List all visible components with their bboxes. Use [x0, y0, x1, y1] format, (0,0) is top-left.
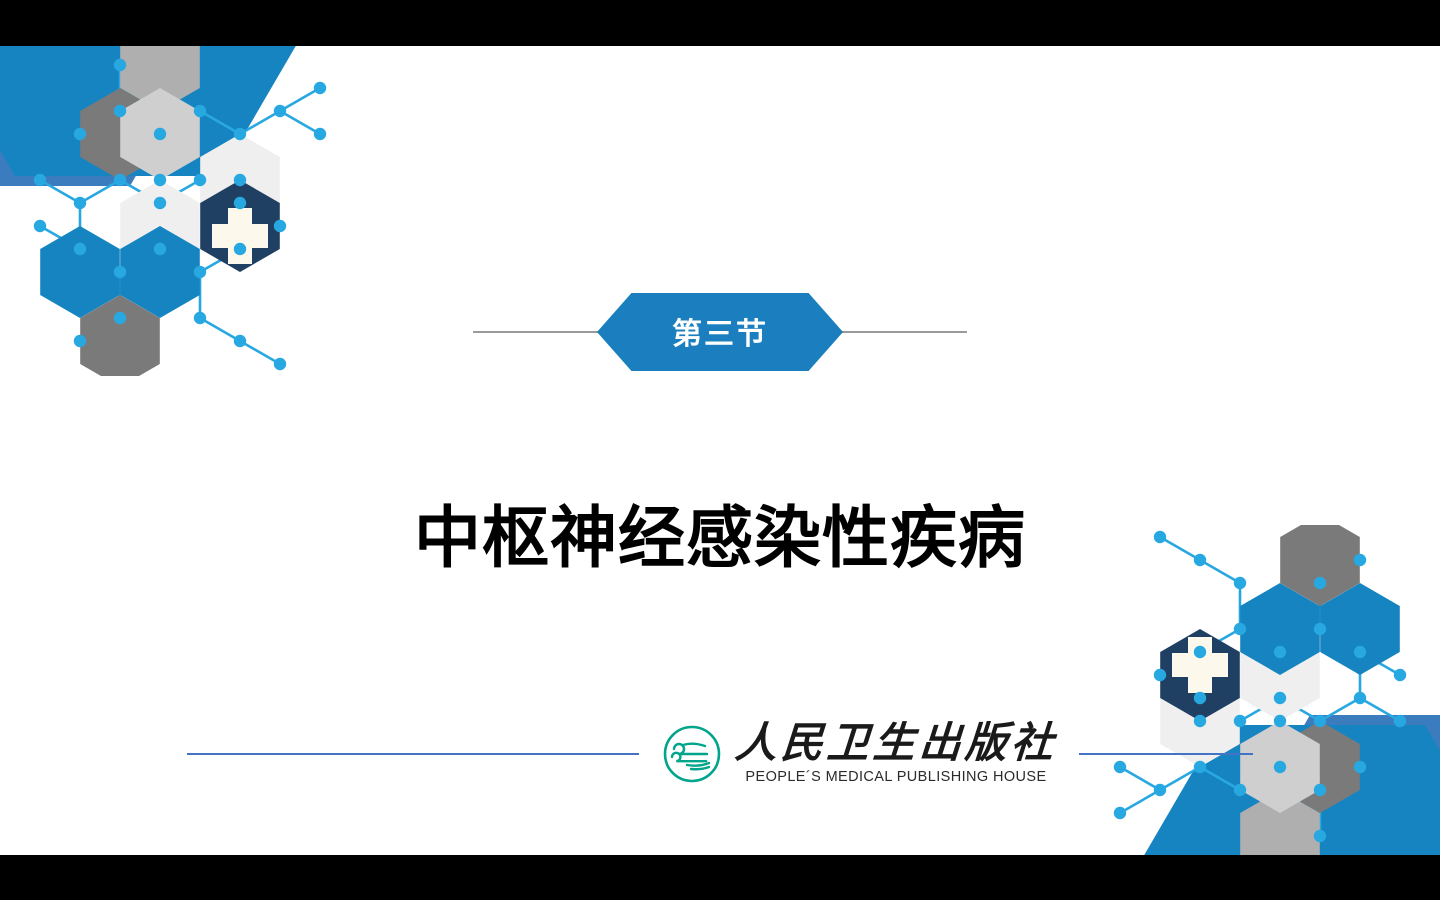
medical-cross-icon	[212, 208, 268, 264]
section-banner-hexagon: 第三节	[597, 293, 843, 371]
letterbox-bar-top	[0, 0, 1440, 46]
footer-rule-left	[187, 753, 639, 755]
publisher-name-en: PEOPLE´S MEDICAL PUBLISHING HOUSE	[745, 770, 1046, 786]
banner-rule-right	[839, 331, 967, 333]
letterbox-bar-bottom	[0, 855, 1440, 900]
slide-footer: 人民卫生出版社 PEOPLE´S MEDICAL PUBLISHING HOUS…	[0, 694, 1440, 814]
banner-rule-left	[473, 331, 601, 333]
publisher-logo: 人民卫生出版社 PEOPLE´S MEDICAL PUBLISHING HOUS…	[661, 715, 1057, 793]
cloud-swirl-circle-icon	[661, 723, 723, 785]
publisher-name-cn: 人民卫生出版社	[733, 722, 1058, 766]
footer-rule-right	[1079, 753, 1253, 755]
section-banner-label: 第三节	[672, 314, 768, 350]
publisher-name-block: 人民卫生出版社 PEOPLE´S MEDICAL PUBLISHING HOUS…	[735, 722, 1057, 785]
medical-cross-icon	[1172, 637, 1228, 693]
slide-canvas: 第三节 中枢神经感染性疾病	[0, 46, 1440, 855]
section-banner: 第三节	[0, 270, 1440, 394]
presentation-screen: 第三节 中枢神经感染性疾病	[0, 0, 1440, 900]
page-title: 中枢神经感染性疾病	[0, 499, 1440, 579]
